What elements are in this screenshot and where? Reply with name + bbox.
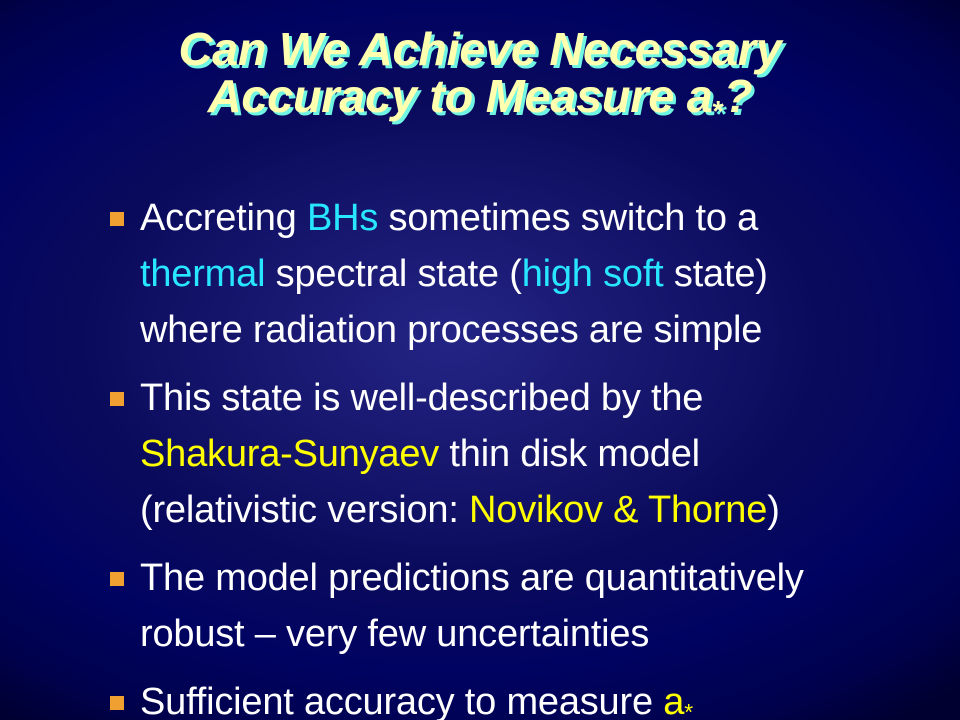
bullet-item: The model predictions are quantitatively…: [104, 550, 954, 662]
title-line-2: Accuracy to Measure a*?: [0, 73, 960, 127]
text-run: Accreting: [140, 197, 307, 239]
text-run: This state is well-described by the: [140, 377, 703, 419]
bullet-item: Sufficient accuracy to measure a*: [104, 674, 954, 720]
text-run: BHs: [307, 197, 378, 239]
bullet-text: Sufficient accuracy to measure a*: [140, 674, 954, 720]
title-question-mark: ?: [724, 70, 752, 122]
text-run: (relativistic version:: [140, 489, 469, 531]
title-subscript-asterisk: *: [713, 98, 724, 127]
bullet-item: Accreting BHs sometimes switch to atherm…: [104, 190, 954, 358]
text-run: Shakura-Sunyaev: [140, 433, 439, 475]
text-run: The model predictions are quantitatively: [140, 557, 804, 599]
text-run: thin disk model: [439, 433, 700, 475]
text-run: Sufficient accuracy to measure: [140, 681, 663, 720]
text-run: spectral state (: [265, 253, 521, 295]
bullet-text: This state is well-described by theShaku…: [140, 370, 954, 538]
text-run: high soft: [522, 253, 664, 295]
text-run: state): [664, 253, 768, 295]
title-line-2-text: Accuracy to Measure a: [208, 70, 713, 122]
presentation-slide: Can We Achieve Necessary Accuracy to Mea…: [0, 0, 960, 720]
bullet-text-line: This state is well-described by the: [140, 370, 954, 426]
bullet-text: The model predictions are quantitatively…: [140, 550, 954, 662]
bullet-text-line: robust – very few uncertainties: [140, 606, 954, 662]
bullet-square-icon: [110, 392, 124, 406]
bullet-text-line: thermal spectral state (high soft state): [140, 246, 954, 302]
bullet-list: Accreting BHs sometimes switch to atherm…: [104, 190, 954, 720]
text-run: robust – very few uncertainties: [140, 613, 649, 655]
bullet-text-line: Accreting BHs sometimes switch to a: [140, 190, 954, 246]
text-run: thermal: [140, 253, 265, 295]
bullet-text-line: The model predictions are quantitatively: [140, 550, 954, 606]
text-run: a: [663, 681, 684, 720]
bullet-text-line: Shakura-Sunyaev thin disk model: [140, 426, 954, 482]
bullet-item: This state is well-described by theShaku…: [104, 370, 954, 538]
text-run: ): [767, 489, 779, 531]
bullet-text: Accreting BHs sometimes switch to atherm…: [140, 190, 954, 358]
bullet-text-line: Sufficient accuracy to measure a*: [140, 674, 954, 720]
bullet-square-icon: [110, 572, 124, 586]
slide-title: Can We Achieve Necessary Accuracy to Mea…: [0, 26, 960, 127]
subscript-asterisk: *: [684, 684, 693, 720]
text-run: where radiation processes are simple: [140, 309, 762, 351]
text-run: sometimes switch to a: [378, 197, 758, 239]
title-line-1: Can We Achieve Necessary: [0, 26, 960, 73]
bullet-text-line: where radiation processes are simple: [140, 302, 954, 358]
bullet-text-line: (relativistic version: Novikov & Thorne): [140, 482, 954, 538]
bullet-square-icon: [110, 212, 124, 226]
text-run: Novikov & Thorne: [469, 489, 767, 531]
bullet-square-icon: [110, 696, 124, 710]
